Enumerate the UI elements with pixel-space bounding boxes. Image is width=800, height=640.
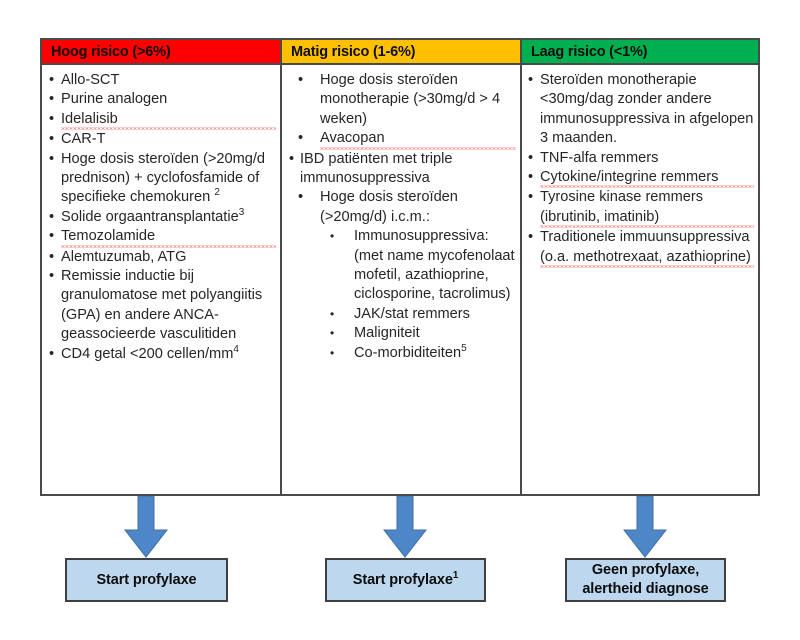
list-item: • Steroïden monotherapie <30mg/dag zonde… (526, 71, 754, 149)
list-item-label: Hoge dosis steroïden (>20mg/d) i.c.m.: (320, 188, 516, 227)
list-item-label: JAK/stat remmers (354, 305, 516, 324)
bullet-glyph: • (298, 188, 303, 207)
footnote-marker: 2 (214, 188, 220, 199)
bullet-glyph: • (330, 227, 334, 246)
down-arrow-icon-high (124, 496, 168, 558)
list-item: • Remissie inductie bij granulomatose me… (46, 267, 276, 345)
list-item: • IBD patiënten met triple immunosuppres… (286, 150, 516, 189)
outcome-label: Start profylaxe (96, 571, 196, 590)
bullet-glyph: • (528, 71, 533, 90)
list-item-label: Co-morbiditeiten5 (354, 344, 516, 363)
list-item-label: IBD patiënten met triple immunosuppressi… (300, 150, 516, 189)
list-item: • CD4 getal <200 cellen/mm4 (46, 345, 276, 364)
list-item-label: Traditionele immuunsuppressiva (o.a. met… (540, 228, 754, 268)
column-header-moderate-risk: Matig risico (1-6%) (282, 40, 520, 65)
bullet-glyph: • (49, 345, 54, 364)
footnote-marker: 4 (233, 344, 239, 355)
list-item-label: Remissie inductie bij granulomatose met … (61, 267, 276, 345)
bullet-glyph: • (49, 71, 54, 90)
footnote-marker: 5 (461, 343, 467, 354)
list-item-label: Immunosuppressiva: (met name mycofenolaa… (354, 227, 516, 305)
column-body-high-risk: • Allo-SCT • Purine analogen • Idelalisi… (42, 65, 280, 494)
list-item-label: Tyrosine kinase remmers (ibrutinib, imat… (540, 188, 754, 228)
list-item: • Temozolamide (46, 227, 276, 247)
list-item: • Allo-SCT (46, 71, 276, 90)
column-header-low-risk: Laag risico (<1%) (522, 40, 758, 65)
footnote-marker: 3 (239, 207, 245, 218)
column-header-high-risk: Hoog risico (>6%) (42, 40, 280, 65)
column-body-low-risk: • Steroïden monotherapie <30mg/dag zonde… (522, 65, 758, 494)
list-item: • Traditionele immuunsuppressiva (o.a. m… (526, 228, 754, 268)
outcome-label: Start profylaxe1 (353, 571, 458, 590)
down-arrow-icon-moderate (383, 496, 427, 558)
bullet-glyph: • (528, 149, 533, 168)
bullet-glyph: • (49, 150, 54, 169)
list-item-label: Solide orgaantransplantatie3 (61, 208, 276, 227)
list-item-label: Maligniteit (354, 324, 516, 343)
bullet-glyph: • (49, 208, 54, 227)
list-item: • JAK/stat remmers (286, 305, 516, 324)
risk-column-low: Laag risico (<1%) • Steroïden monotherap… (522, 40, 758, 494)
list-item: • Purine analogen (46, 90, 276, 109)
bullet-glyph: • (330, 344, 334, 363)
footnote-marker: 1 (453, 570, 458, 581)
list-item: • Hoge dosis steroïden (>20mg/d) i.c.m.: (286, 188, 516, 227)
bullet-glyph: • (49, 130, 54, 149)
down-arrow-icon-low (623, 496, 667, 558)
bullet-glyph: • (49, 90, 54, 109)
list-item: • Avacopan (286, 129, 516, 149)
list-item-label: Allo-SCT (61, 71, 276, 90)
list-item-label: Hoge dosis steroïden monotherapie (>30mg… (320, 71, 516, 129)
list-item-label: CAR-T (61, 130, 276, 149)
outcome-box-low-risk: Geen profylaxe, alertheid diagnose (565, 558, 726, 602)
bullet-glyph: • (49, 248, 54, 267)
list-item-label: Idelalisib (61, 110, 276, 130)
list-item: • Cytokine/integrine remmers (526, 168, 754, 188)
list-item: • Maligniteit (286, 324, 516, 343)
bullet-glyph: • (298, 71, 303, 90)
bullet-glyph: • (289, 150, 294, 169)
list-item-label: CD4 getal <200 cellen/mm4 (61, 345, 276, 364)
list-item-label: Alemtuzumab, ATG (61, 248, 276, 267)
list-item-label: TNF-alfa remmers (540, 149, 754, 168)
bullet-glyph: • (298, 129, 303, 148)
bullet-glyph: • (330, 305, 334, 324)
list-item: • Solide orgaantransplantatie3 (46, 208, 276, 227)
list-item: • Immunosuppressiva: (met name mycofenol… (286, 227, 516, 305)
outcome-label: Geen profylaxe, alertheid diagnose (567, 561, 724, 599)
outcome-box-moderate-risk: Start profylaxe1 (325, 558, 486, 602)
list-item: • Tyrosine kinase remmers (ibrutinib, im… (526, 188, 754, 228)
list-item: • Co-morbiditeiten5 (286, 344, 516, 363)
risk-column-high: Hoog risico (>6%) • Allo-SCT • Purine an… (42, 40, 282, 494)
list-item: • Hoge dosis steroïden monotherapie (>30… (286, 71, 516, 129)
bullet-glyph: • (528, 188, 533, 207)
list-item: • Idelalisib (46, 110, 276, 130)
list-item-label: Steroïden monotherapie <30mg/dag zonder … (540, 71, 754, 149)
list-item: • CAR-T (46, 130, 276, 149)
outcome-box-high-risk: Start profylaxe (65, 558, 228, 602)
column-body-moderate-risk: • Hoge dosis steroïden monotherapie (>30… (282, 65, 520, 494)
list-item: • TNF-alfa remmers (526, 149, 754, 168)
bullet-glyph: • (49, 110, 54, 129)
bullet-glyph: • (528, 168, 533, 187)
list-item-label: Purine analogen (61, 90, 276, 109)
list-item-label: Hoge dosis steroïden (>20mg/d prednison)… (61, 150, 276, 208)
list-item-label: Avacopan (320, 129, 516, 149)
bullet-glyph: • (49, 267, 54, 286)
bullet-glyph: • (330, 324, 334, 343)
list-item: • Hoge dosis steroïden (>20mg/d predniso… (46, 150, 276, 208)
bullet-glyph: • (528, 228, 533, 247)
list-item: • Alemtuzumab, ATG (46, 248, 276, 267)
risk-column-moderate: Matig risico (1-6%) • Hoge dosis steroïd… (282, 40, 522, 494)
list-item-label: Cytokine/integrine remmers (540, 168, 754, 188)
risk-stratification-table: Hoog risico (>6%) • Allo-SCT • Purine an… (40, 38, 760, 496)
bullet-glyph: • (49, 227, 54, 246)
list-item-label: Temozolamide (61, 227, 276, 247)
